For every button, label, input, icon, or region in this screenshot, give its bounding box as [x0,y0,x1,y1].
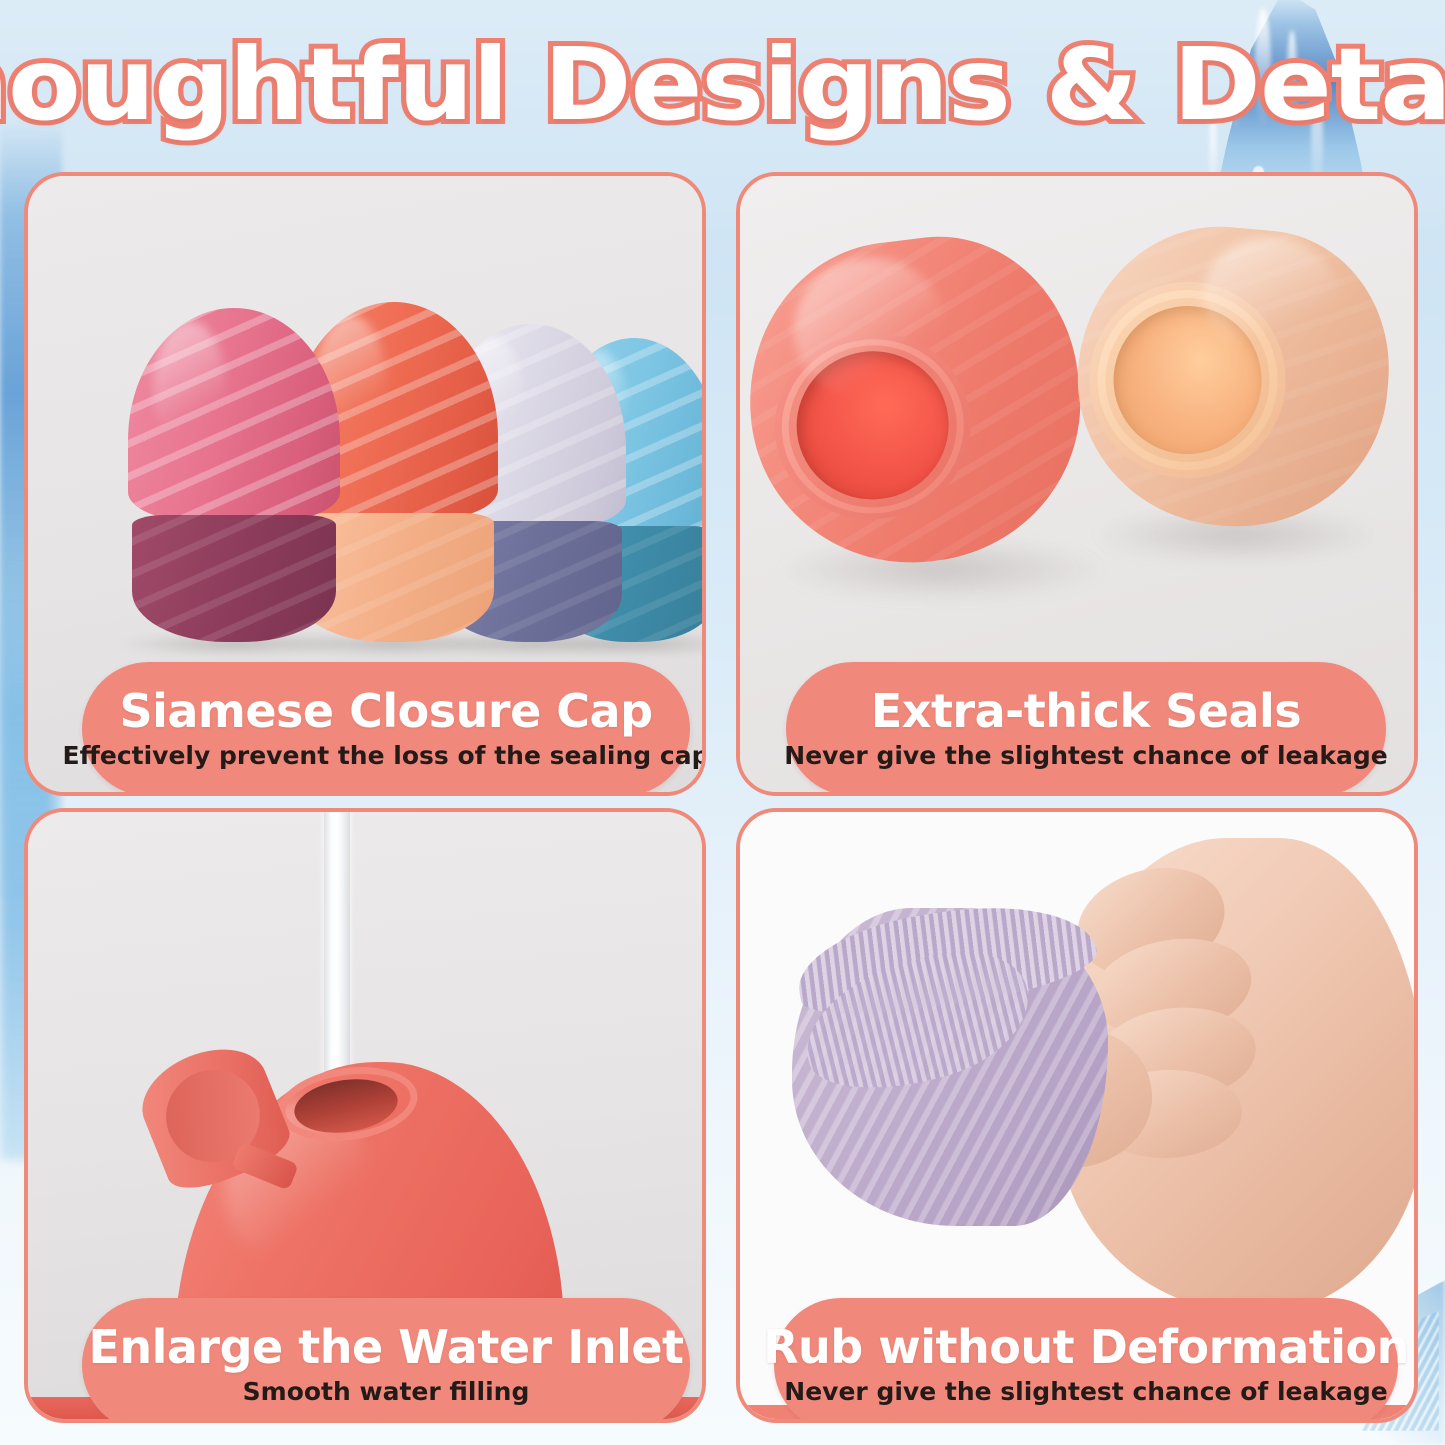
page-title: Thoughtful Designs & Details [0,26,1445,143]
product-bottle-pink [128,308,340,642]
caption-subtitle: Never give the slightest chance of leaka… [784,742,1387,770]
product-cup-coral [740,221,1098,581]
product-cup-peach [1066,215,1401,539]
caption-pill-rub-without-deformation: Rub without Deformation Never give the s… [774,1298,1398,1423]
caption-pill-extra-thick-seals: Extra-thick Seals Never give the slighte… [786,662,1386,796]
feature-card-enlarge-water-inlet: Enlarge the Water Inlet Smooth water fil… [24,808,706,1423]
caption-pill-siamese-closure-cap: Siamese Closure Cap Effectively prevent … [82,662,690,796]
page-header: Thoughtful Designs & Details [0,24,1445,144]
feature-card-siamese-closure-cap: Siamese Closure Cap Effectively prevent … [24,172,706,796]
caption-subtitle: Smooth water filling [243,1378,530,1406]
caption-pill-enlarge-water-inlet: Enlarge the Water Inlet Smooth water fil… [82,1298,690,1423]
caption-title: Extra-thick Seals [871,688,1301,735]
caption-title: Siamese Closure Cap [119,688,652,735]
water-stream-icon [324,812,350,1094]
caption-title: Enlarge the Water Inlet [88,1324,683,1371]
feature-card-extra-thick-seals: Extra-thick Seals Never give the slighte… [736,172,1418,796]
caption-subtitle: Effectively prevent the loss of the seal… [63,742,706,770]
caption-subtitle: Never give the slightest chance of leaka… [784,1378,1387,1406]
feature-card-rub-without-deformation: Rub without Deformation Never give the s… [736,808,1418,1423]
caption-title: Rub without Deformation [763,1324,1409,1371]
infographic-page: Thoughtful Designs & Details [0,0,1445,1445]
